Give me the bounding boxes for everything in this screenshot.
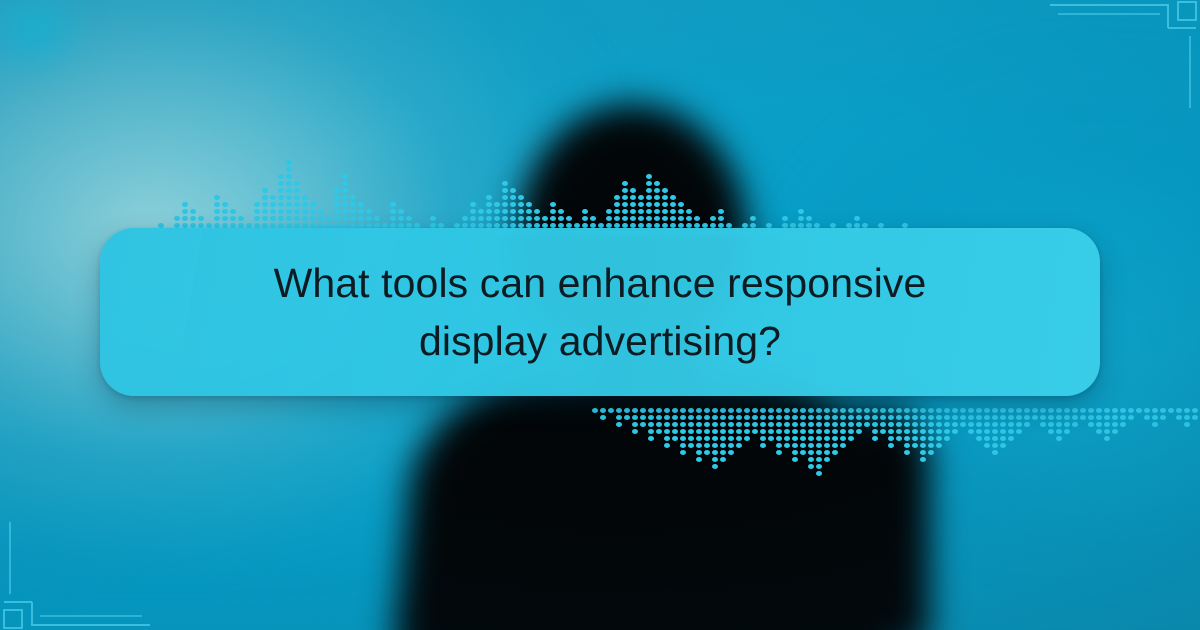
promo-banner: What tools can enhance responsive displa…	[0, 0, 1200, 630]
question-card: What tools can enhance responsive displa…	[100, 228, 1100, 396]
question-text: What tools can enhance responsive displa…	[220, 254, 980, 370]
